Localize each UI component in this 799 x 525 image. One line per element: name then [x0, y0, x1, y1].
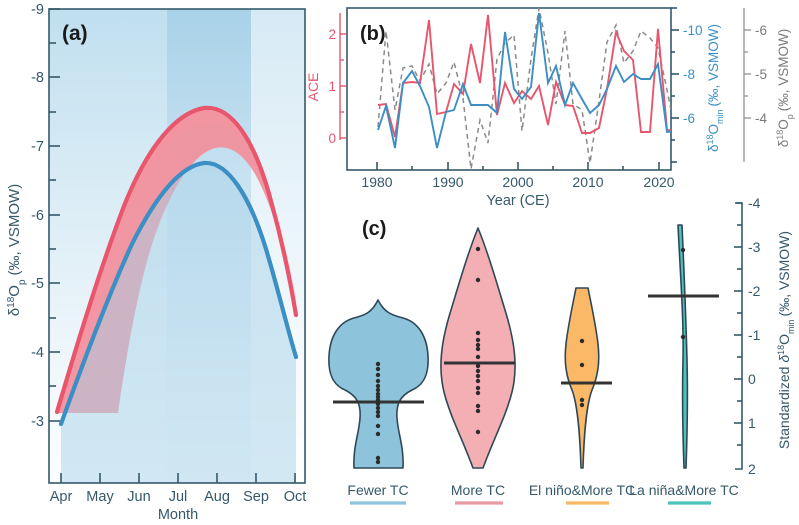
panel-b-right1-axis-label: δ18Omin(‰, VSMOW): [705, 24, 725, 152]
svg-text:Standardized δ18Omin(‰, VSMOW): Standardized δ18Omin(‰, VSMOW): [776, 231, 796, 449]
ylabel-a-delta: δ: [6, 308, 23, 316]
violin-lanina-more-tc[interactable]: [648, 225, 719, 468]
panel-c-ticklabels: -4 -3 -2 -1 0 1 2: [748, 195, 761, 477]
y-tick-b-r2-0: -6: [755, 23, 767, 38]
y-tick-b-left-0: 2: [328, 27, 336, 42]
x-tick-b-3: 2010: [572, 174, 603, 190]
figure-root: -9 -8 -7 -6 -5 -4 -3 Apr May Jun Jul Aug…: [0, 0, 799, 525]
panel-c-right-axis: [734, 203, 742, 469]
ylabel-a-sub: p: [17, 279, 28, 285]
panel-a-x-ticklabels: Apr May Jun Jul Aug Sep Oct: [50, 489, 307, 505]
panel-a-x-axis-label: Month: [158, 507, 198, 523]
violin-elnino-more-tc[interactable]: [561, 288, 612, 468]
y-tick-c-1: -3: [748, 239, 761, 255]
ylabel-a-sup: 18: [6, 296, 17, 308]
ylabel-a-O: O: [6, 285, 23, 297]
y-tick-b-r1-0: -10: [683, 23, 703, 38]
y-tick-c-6: 2: [748, 461, 756, 477]
panel-b-right2-ticklabels: -6 -5 -4: [755, 23, 767, 126]
panel-c-label: (c): [362, 218, 386, 240]
panel-b-right1-ticklabels: -10 -8 -6: [683, 23, 703, 126]
violin-fewer-tc[interactable]: [329, 300, 428, 468]
x-tick-b-0: 1980: [361, 174, 392, 190]
y-tick-a-3: -6: [31, 208, 44, 224]
x-tick-a-3: Jul: [169, 489, 188, 505]
panel-b: 1980 1990 2000 2010 2020 Year (CE) 2 1 0…: [305, 8, 795, 209]
panel-b-left-ticklabels: 2 1 0: [328, 27, 336, 146]
panel-b-series-d18Op: [378, 8, 692, 169]
svg-text:δ18Omin(‰, VSMOW): δ18Omin(‰, VSMOW): [705, 24, 725, 152]
panel-b-label: (b): [360, 23, 386, 45]
y-tick-a-1: -8: [31, 70, 44, 86]
violin-more-tc[interactable]: [441, 228, 515, 468]
panel-b-right-axis-2: [744, 8, 751, 162]
figure-svg: -9 -8 -7 -6 -5 -4 -3 Apr May Jun Jul Aug…: [0, 0, 799, 525]
y-tick-c-2: -2: [748, 283, 761, 299]
panel-c-axis-label: Standardized δ18Omin(‰, VSMOW): [776, 231, 796, 449]
y-tick-b-r2-1: -5: [755, 67, 767, 82]
panel-a-label: (a): [62, 22, 88, 45]
panel-c: -4 -3 -2 -1 0 1 2 Standardized δ18Omin(‰…: [329, 195, 796, 503]
x-tick-b-2: 2000: [502, 174, 533, 190]
x-tick-b-4: 2020: [643, 174, 674, 190]
ylabel-a-units: (‰, VSMOW): [6, 184, 23, 276]
svg-text:δ18Op(‰, VSMOW): δ18Op(‰, VSMOW): [775, 29, 795, 148]
panel-b-x-ticks: [377, 162, 659, 170]
y-tick-a-6: -3: [31, 414, 44, 430]
panel-b-left-axis: [340, 13, 346, 140]
y-tick-c-5: 1: [748, 415, 756, 431]
panel-c-category-labels: Fewer TC More TC El niño&More TC La niña…: [347, 482, 738, 503]
x-tick-a-0: Apr: [50, 489, 73, 505]
panel-b-right2-axis-label: δ18Op(‰, VSMOW): [775, 29, 795, 148]
y-tick-c-0: -4: [748, 195, 761, 211]
category-label-fewer-tc[interactable]: Fewer TC: [347, 482, 408, 498]
category-label-elnino-more-tc[interactable]: El niño&More TC: [529, 482, 635, 498]
y-tick-b-r1-1: -8: [683, 67, 695, 82]
y-tick-a-0: -9: [31, 2, 44, 18]
panel-b-x-ticklabels: 1980 1990 2000 2010 2020: [361, 174, 674, 190]
x-tick-a-5: Sep: [243, 489, 269, 505]
y-tick-b-left-1: 1: [328, 79, 336, 94]
panel-b-left-axis-label: ACE: [305, 73, 321, 102]
y-tick-a-2: -7: [31, 139, 44, 155]
y-tick-a-5: -4: [31, 345, 44, 361]
panel-a: -9 -8 -7 -6 -5 -4 -3 Apr May Jun Jul Aug…: [6, 2, 307, 523]
category-label-lanina-more-tc[interactable]: La niña&More TC: [629, 482, 738, 498]
x-tick-b-1: 1990: [432, 174, 463, 190]
x-tick-a-1: May: [86, 489, 114, 505]
svg-text:δ18Op(‰, VSMOW): δ18Op(‰, VSMOW): [6, 184, 28, 316]
panel-b-right-axis-1: [671, 8, 679, 162]
svg-text:ACE: ACE: [305, 73, 321, 102]
y-tick-b-r2-2: -4: [755, 111, 767, 126]
panel-a-y-axis-label: δ18Op(‰, VSMOW): [6, 184, 28, 316]
panel-a-y-ticklabels: -9 -8 -7 -6 -5 -4 -3: [31, 2, 44, 430]
y-tick-b-left-2: 0: [328, 131, 336, 146]
panel-b-x-axis-label: Year (CE): [486, 193, 549, 209]
y-tick-a-4: -5: [31, 276, 44, 292]
x-tick-a-6: Oct: [284, 489, 307, 505]
y-tick-c-4: 0: [748, 371, 756, 387]
category-label-more-tc[interactable]: More TC: [451, 482, 505, 498]
x-tick-a-2: Jun: [127, 489, 150, 505]
y-tick-b-r1-2: -6: [683, 111, 695, 126]
x-tick-a-4: Aug: [204, 489, 230, 505]
y-tick-c-3: -1: [748, 327, 761, 343]
